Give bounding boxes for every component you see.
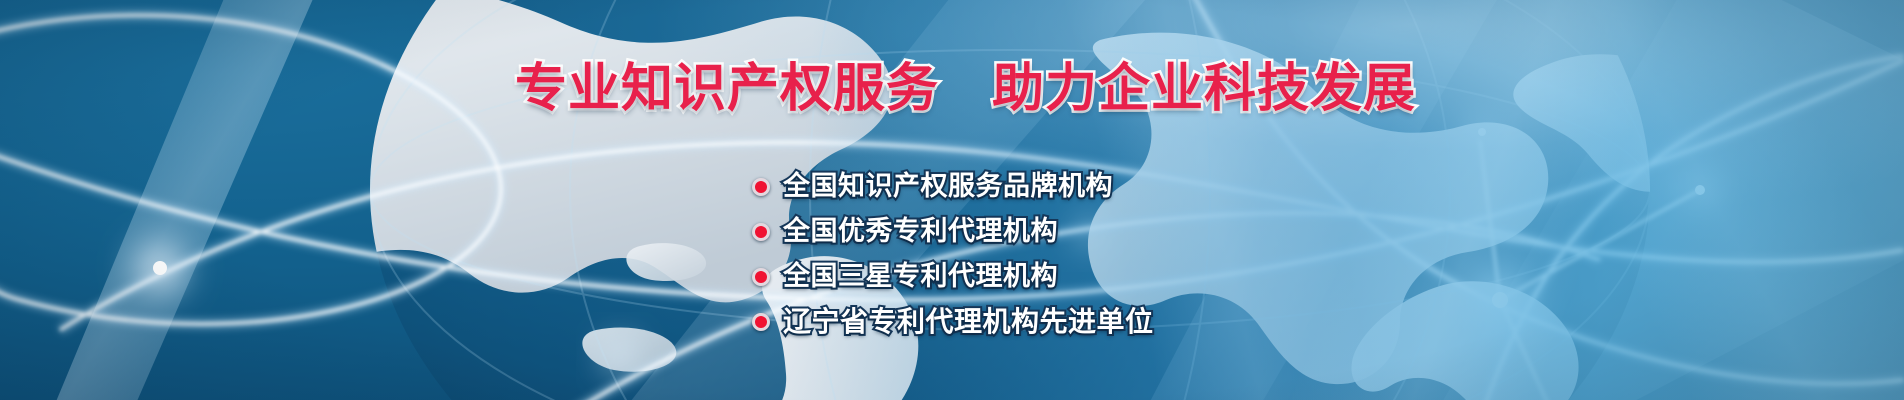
list-item-label: 全国知识产权服务品牌机构	[783, 170, 1113, 204]
list-item-label: 全国优秀专利代理机构	[783, 215, 1058, 249]
red-dot-icon	[752, 313, 770, 331]
list-item-label: 辽宁省专利代理机构先进单位	[783, 305, 1154, 339]
list-item: 全国优秀专利代理机构	[752, 213, 1154, 251]
credentials-list: 全国知识产权服务品牌机构 全国优秀专利代理机构 全国三星专利代理机构 辽宁省专利…	[752, 168, 1154, 341]
red-dot-icon	[752, 268, 770, 286]
red-dot-icon	[752, 223, 770, 241]
list-item-label: 全国三星专利代理机构	[783, 260, 1058, 294]
banner-headline: 专业知识产权服务 助力企业科技发展	[515, 60, 1416, 118]
list-item: 辽宁省专利代理机构先进单位	[752, 303, 1154, 341]
list-item: 全国知识产权服务品牌机构	[752, 168, 1154, 206]
banner-content: 专业知识产权服务 助力企业科技发展 全国知识产权服务品牌机构 全国优秀专利代理机…	[0, 0, 1904, 400]
red-dot-icon	[752, 178, 770, 196]
list-item: 全国三星专利代理机构	[752, 258, 1154, 296]
promo-banner: 专业知识产权服务 助力企业科技发展 全国知识产权服务品牌机构 全国优秀专利代理机…	[0, 0, 1904, 400]
